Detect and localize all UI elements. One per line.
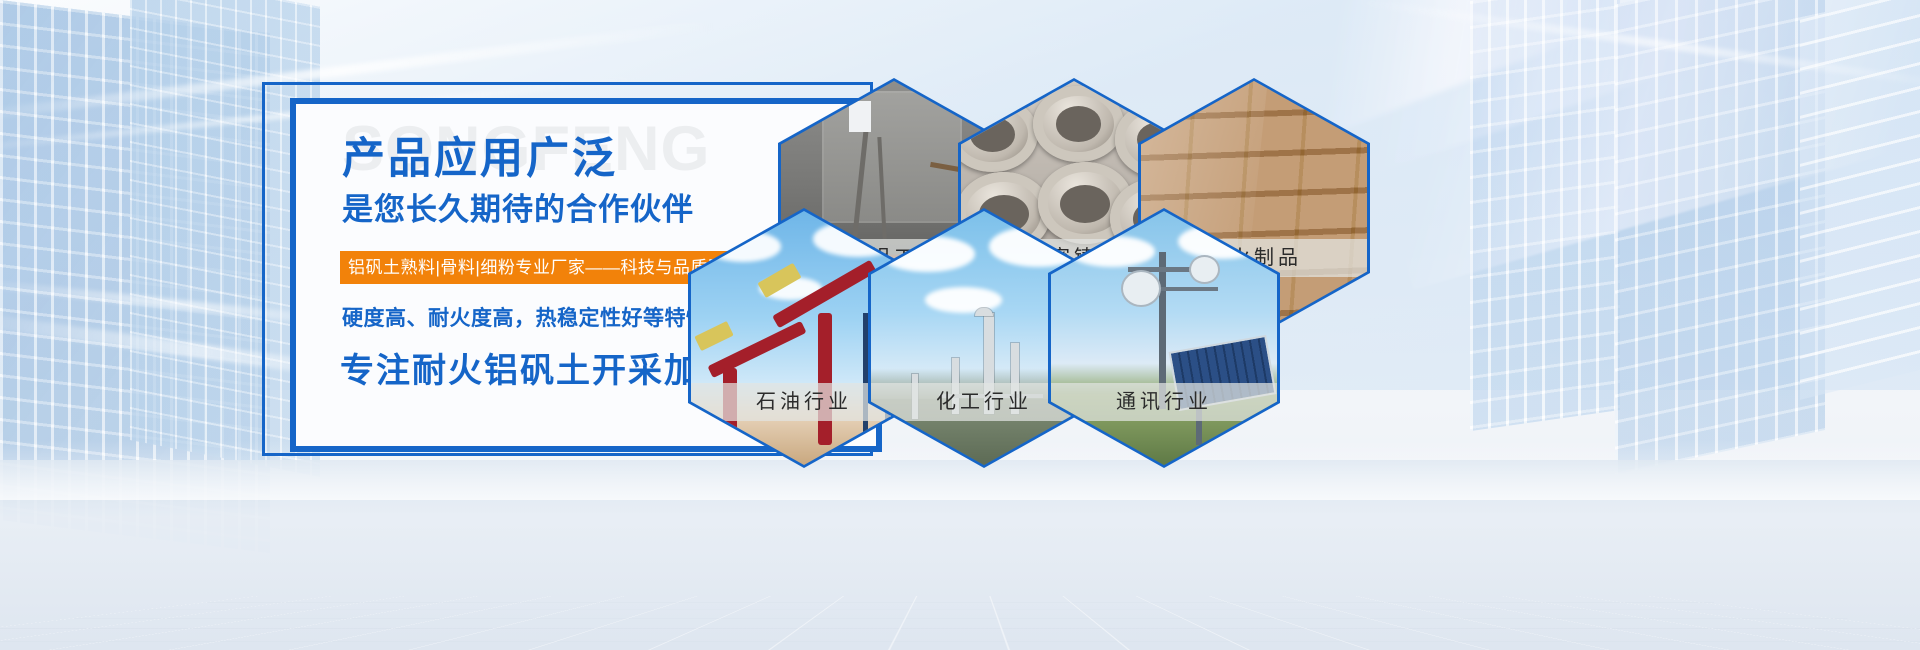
promotional-banner: SONGFENG 产品应用广泛 是您长久期待的合作伙伴 铝矾土熟料|骨料|细粉专… (0, 0, 1920, 650)
hexagon-tile-telecom-industry[interactable]: 通讯行业 (1048, 208, 1280, 468)
feature-line: 硬度高、耐火度高，热稳定性好等特性 (342, 308, 708, 329)
hexagon-border: 通讯行业 (1048, 208, 1280, 468)
headline-sub: 是您长久期待的合作伙伴 (342, 194, 694, 225)
background-building-right-first (1470, 0, 1620, 431)
telecom-industry-photo (1051, 211, 1277, 465)
headline-main: 产品应用广泛 (342, 138, 618, 181)
hexagon-inner: 通讯行业 (1051, 211, 1277, 465)
background-building-right-second (1615, 0, 1825, 475)
background-floor-tile-grid (0, 596, 1920, 650)
hexagon-gallery: 炼铝工业 (660, 78, 1280, 468)
background-building-right-third (1800, 0, 1920, 400)
hexagon-label: 通讯行业 (1051, 383, 1277, 421)
